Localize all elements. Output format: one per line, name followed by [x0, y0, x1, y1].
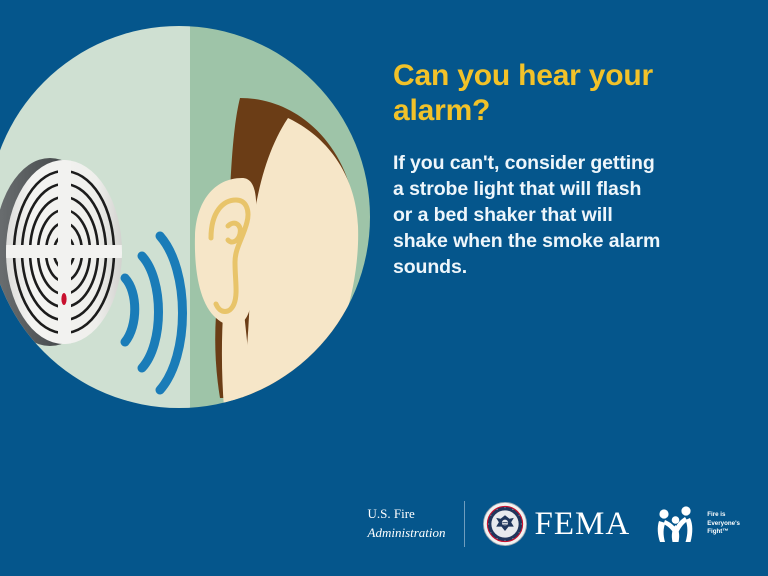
fire-is-everyones-fight-text: Fire is Everyone's Fight™: [707, 511, 740, 537]
feef-line-2: Everyone's: [707, 520, 740, 527]
illustration: [0, 26, 370, 408]
footer-logo-bar: U.S. Fire Administration: [0, 494, 768, 554]
alarm-led-icon: [61, 293, 66, 305]
usfa-line-2: Administration: [368, 524, 446, 543]
poster-canvas: Can you hear your alarm? If you can't, c…: [0, 0, 768, 576]
headline: Can you hear your alarm?: [393, 58, 738, 128]
circle-scene: [0, 26, 370, 408]
dhs-seal-icon: [483, 502, 527, 546]
fire-is-everyones-fight-logo: Fire is Everyone's Fight™: [656, 503, 740, 545]
illustration-svg: [0, 26, 370, 408]
usfa-logo: U.S. Fire Administration: [368, 501, 483, 547]
footer-divider: [464, 501, 465, 547]
fema-wordmark: FEMA: [535, 508, 631, 541]
feef-line-3: Fight™: [707, 528, 728, 535]
usfa-lockup: U.S. Fire Administration: [368, 505, 462, 543]
usfa-line-1: U.S. Fire: [368, 505, 446, 524]
fire-is-everyones-fight-icon: [656, 503, 702, 545]
body-copy: If you can't, consider getting a strobe …: [393, 151, 738, 281]
fema-logo: FEMA: [483, 502, 631, 546]
text-column: Can you hear your alarm? If you can't, c…: [393, 58, 738, 281]
feef-line-1: Fire is: [707, 511, 725, 518]
